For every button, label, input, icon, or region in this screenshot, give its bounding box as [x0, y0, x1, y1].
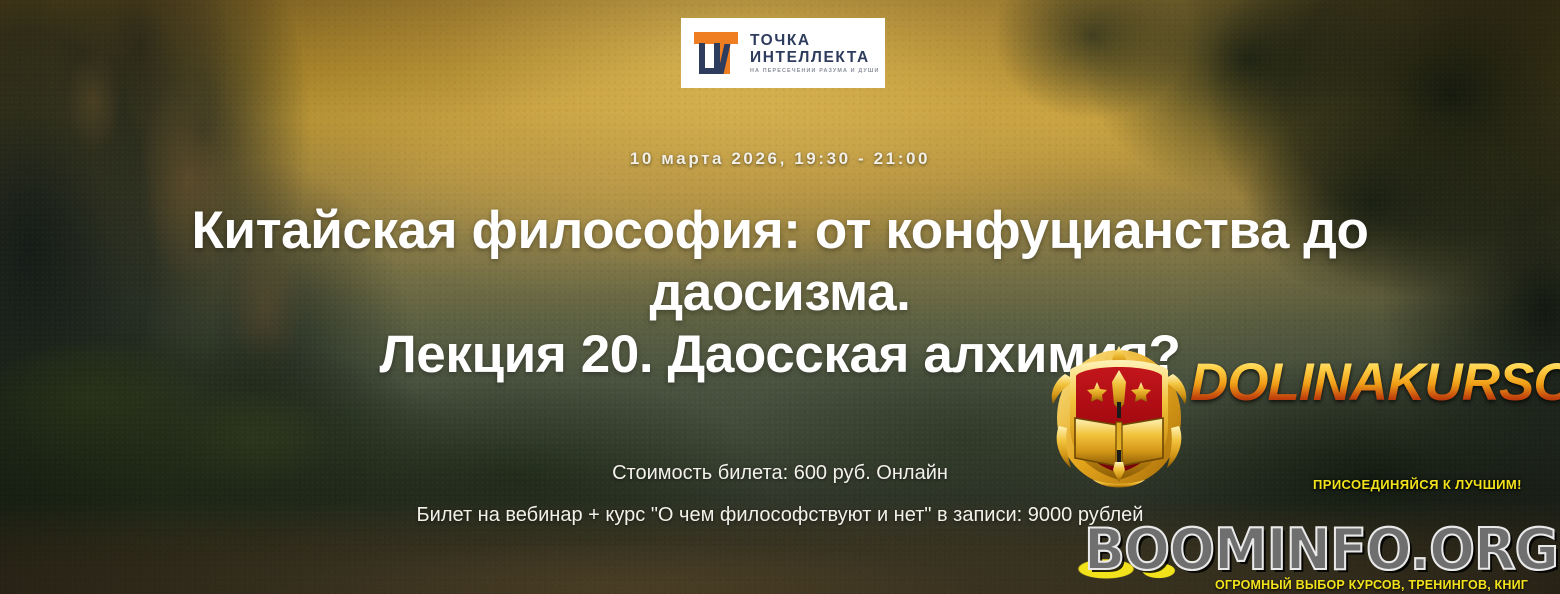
event-title: Китайская философия: от конфуцианства до… [86, 200, 1474, 386]
event-title-line-1: Китайская философия: от конфуцианства до… [191, 201, 1368, 322]
logo-line-2: ИНТЕЛЛЕКТА [750, 49, 880, 66]
price-bundle: Билет на вебинар + курс "О чем философст… [0, 504, 1560, 527]
watermark-join-text: ПРИСОЕДИНЯЙСЯ К ЛУЧШИМ! [1313, 477, 1522, 492]
brand-logo[interactable]: ТОЧКА ИНТЕЛЛЕКТА НА ПЕРЕСЕЧЕНИИ РАЗУМА И… [681, 18, 885, 88]
logo-line-1: ТОЧКА [750, 32, 880, 49]
banner-content: 10 марта 2026, 19:30 - 21:00 Китайская ф… [0, 0, 1560, 594]
logo-tagline: НА ПЕРЕСЕЧЕНИИ РАЗУМА И ДУШИ [750, 68, 880, 74]
event-banner: ТОЧКА ИНТЕЛЛЕКТА НА ПЕРЕСЕЧЕНИИ РАЗУМА И… [0, 0, 1560, 594]
tochka-intellekta-mark-icon [694, 32, 738, 74]
event-title-line-2: Лекция 20. Даосская алхимия? [86, 324, 1474, 386]
event-date: 10 марта 2026, 19:30 - 21:00 [0, 149, 1560, 169]
